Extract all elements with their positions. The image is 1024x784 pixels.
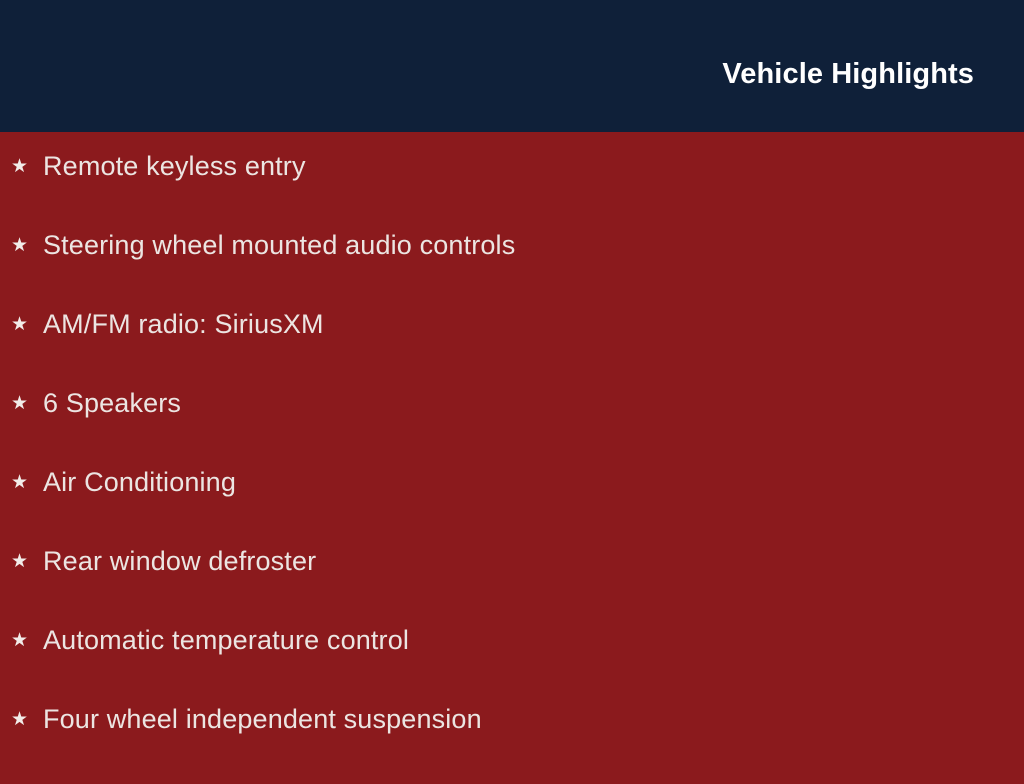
- list-item: ★ AM/FM radio: SiriusXM: [0, 310, 1024, 389]
- star-icon: ★: [11, 157, 43, 176]
- slide-header-bar: Vehicle Highlights: [0, 0, 1024, 132]
- list-item-label: Rear window defroster: [43, 547, 1024, 577]
- list-item-label: Automatic temperature control: [43, 626, 1024, 656]
- star-icon: ★: [11, 631, 43, 650]
- star-icon: ★: [11, 552, 43, 571]
- list-item-label: Remote keyless entry: [43, 152, 1024, 182]
- star-icon: ★: [11, 710, 43, 729]
- slide-body: ★ Remote keyless entry ★ Steering wheel …: [0, 132, 1024, 768]
- slide: Vehicle Highlights ★ Remote keyless entr…: [0, 0, 1024, 768]
- list-item: ★ Air Conditioning: [0, 468, 1024, 547]
- list-item: ★ Four wheel independent suspension: [0, 705, 1024, 784]
- list-item: ★ 6 Speakers: [0, 389, 1024, 468]
- vehicle-highlights-list: ★ Remote keyless entry ★ Steering wheel …: [0, 152, 1024, 784]
- list-item: ★ Remote keyless entry: [0, 152, 1024, 231]
- list-item-label: AM/FM radio: SiriusXM: [43, 310, 1024, 340]
- star-icon: ★: [11, 473, 43, 492]
- list-item-label: Air Conditioning: [43, 468, 1024, 498]
- list-item: ★ Automatic temperature control: [0, 626, 1024, 705]
- star-icon: ★: [11, 315, 43, 334]
- list-item-label: 6 Speakers: [43, 389, 1024, 419]
- star-icon: ★: [11, 236, 43, 255]
- list-item-label: Steering wheel mounted audio controls: [43, 231, 1024, 261]
- page-title: Vehicle Highlights: [722, 60, 974, 89]
- star-icon: ★: [11, 394, 43, 413]
- list-item-label: Four wheel independent suspension: [43, 705, 1024, 735]
- list-item: ★ Steering wheel mounted audio controls: [0, 231, 1024, 310]
- list-item: ★ Rear window defroster: [0, 547, 1024, 626]
